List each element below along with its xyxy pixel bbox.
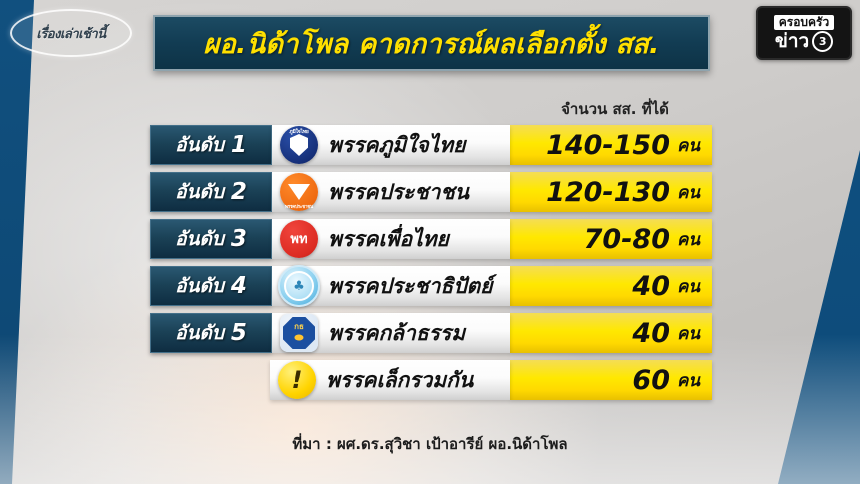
count-unit: คน [677,320,700,347]
rank-label: อันดับ [175,318,224,348]
peoples-party-emblem: พรรคประชาชน [280,173,318,211]
channel-logo: ครอบครัว ข่าว 3 [756,6,852,60]
results-table: อันดับ 1 ภูมิใจไทย พรรคภูมิใจไทย 140-150… [150,125,712,407]
channel-number-badge: 3 [812,31,833,52]
rank-badge: อันดับ 1 [150,125,272,165]
party-cell: ! พรรคเล็กรวมกัน [270,360,510,400]
count-value: 70-80 [584,224,670,255]
count-value: 40 [632,318,670,349]
channel-logo-line2: ข่าว [775,31,809,51]
table-row: อันดับ 5 กธ ⬬ พรรคกล้าธรรม 40 คน [150,313,712,353]
rank-badge: อันดับ 4 [150,266,272,306]
count-cell: 120-130 คน [510,172,712,212]
party-cell: พรรคประชาชน พรรคประชาชน [272,172,510,212]
rank-label: อันดับ [175,130,224,160]
rank-number: 2 [231,179,247,205]
table-row: อันดับ 1 ภูมิใจไทย พรรคภูมิใจไทย 140-150… [150,125,712,165]
rank-label: อันดับ [175,271,224,301]
rank-number: 5 [231,320,247,346]
page-title: ผอ.นิด้าโพล คาดการณ์ผลเลือกตั้ง สส. [153,15,710,71]
rank-label: อันดับ [175,177,224,207]
count-cell: 60 คน [510,360,712,400]
seal-icon: ♣ [284,271,314,301]
count-value: 40 [632,271,670,302]
party-cell: ♣ พรรคประชาธิปัตย์ [272,266,510,306]
table-row: อันดับ 2 พรรคประชาชน พรรคประชาชน 120-130… [150,172,712,212]
peoples-party-logo: พรรคประชาชน [278,171,320,213]
count-cell: 40 คน [510,313,712,353]
table-row: อันดับ 4 ♣ พรรคประชาธิปัตย์ 40 คน [150,266,712,306]
count-column-header: จำนวน สส. ที่ได้ [520,97,710,121]
count-value: 120-130 [546,177,670,208]
bhumjaithai-emblem: ภูมิใจไทย [280,126,318,164]
channel-logo-line1: ครอบครัว [774,15,835,30]
party-name: พรรคเล็กรวมกัน [326,364,473,397]
program-logo: เรื่องเล่าเช้านี้ [10,8,132,58]
count-unit: คน [677,226,700,253]
triangle-icon [288,184,310,200]
kla-tham-logo-caption: กธ [294,323,304,331]
octagon-icon: กธ ⬬ [283,317,315,349]
pheu-thai-logo: พท [278,218,320,260]
rank-number: 1 [231,132,247,158]
pheu-thai-emblem: พท [280,220,318,258]
rank-badge-empty [150,360,270,400]
table-row: ! พรรคเล็กรวมกัน 60 คน [150,360,712,400]
source-note-text: ที่มา : ผศ.ดร.สุวิชา เป้าอารีย์ ผอ.นิด้า… [292,435,567,453]
small-parties-emblem: ! [278,361,316,399]
rank-number: 3 [231,226,247,252]
party-cell: กธ ⬬ พรรคกล้าธรรม [272,313,510,353]
rank-badge: อันดับ 2 [150,172,272,212]
kla-tham-logo: กธ ⬬ [278,312,320,354]
party-name: พรรคเพื่อไทย [328,223,449,256]
bhumjaithai-logo: ภูมิใจไทย [278,124,320,166]
party-cell: พท พรรคเพื่อไทย [272,219,510,259]
count-unit: คน [677,132,700,159]
count-cell: 40 คน [510,266,712,306]
exclamation-icon: ! [276,359,318,401]
count-cell: 70-80 คน [510,219,712,259]
kla-tham-emblem: กธ ⬬ [280,314,318,352]
shield-icon [290,134,308,156]
democrat-party-emblem: ♣ [278,265,320,307]
exclamation-glyph: ! [292,368,303,392]
party-name: พรรคประชาชน [328,176,469,209]
channel-logo-line2-row: ข่าว 3 [775,31,833,52]
broadcast-graphic: เรื่องเล่าเช้านี้ ครอบครัว ข่าว 3 ผอ.นิด… [0,0,860,484]
count-unit: คน [677,367,700,394]
count-unit: คน [677,179,700,206]
democrat-party-logo: ♣ [278,265,320,307]
page-title-text: ผอ.นิด้าโพล คาดการณ์ผลเลือกตั้ง สส. [203,22,659,65]
program-logo-oval: เรื่องเล่าเช้านี้ [10,9,132,57]
source-note: ที่มา : ผศ.ดร.สุวิชา เป้าอารีย์ ผอ.นิด้า… [0,432,860,456]
pheu-thai-logo-caption: พท [290,233,307,246]
count-column-header-text: จำนวน สส. ที่ได้ [561,100,669,118]
count-value: 140-150 [546,130,670,161]
rank-number: 4 [231,273,247,299]
count-value: 60 [632,365,670,396]
party-name: พรรคภูมิใจไทย [328,129,465,162]
wings-icon: ⬬ [294,332,303,343]
rank-label: อันดับ [175,224,224,254]
party-name: พรรคกล้าธรรม [328,317,465,350]
rank-badge: อันดับ 3 [150,219,272,259]
party-cell: ภูมิใจไทย พรรคภูมิใจไทย [272,125,510,165]
count-unit: คน [677,273,700,300]
count-cell: 140-150 คน [510,125,712,165]
party-name: พรรคประชาธิปัตย์ [328,270,492,303]
program-logo-text: เรื่องเล่าเช้านี้ [36,23,105,44]
table-row: อันดับ 3 พท พรรคเพื่อไทย 70-80 คน [150,219,712,259]
rank-badge: อันดับ 5 [150,313,272,353]
peoples-party-logo-caption: พรรคประชาชน [280,203,318,210]
